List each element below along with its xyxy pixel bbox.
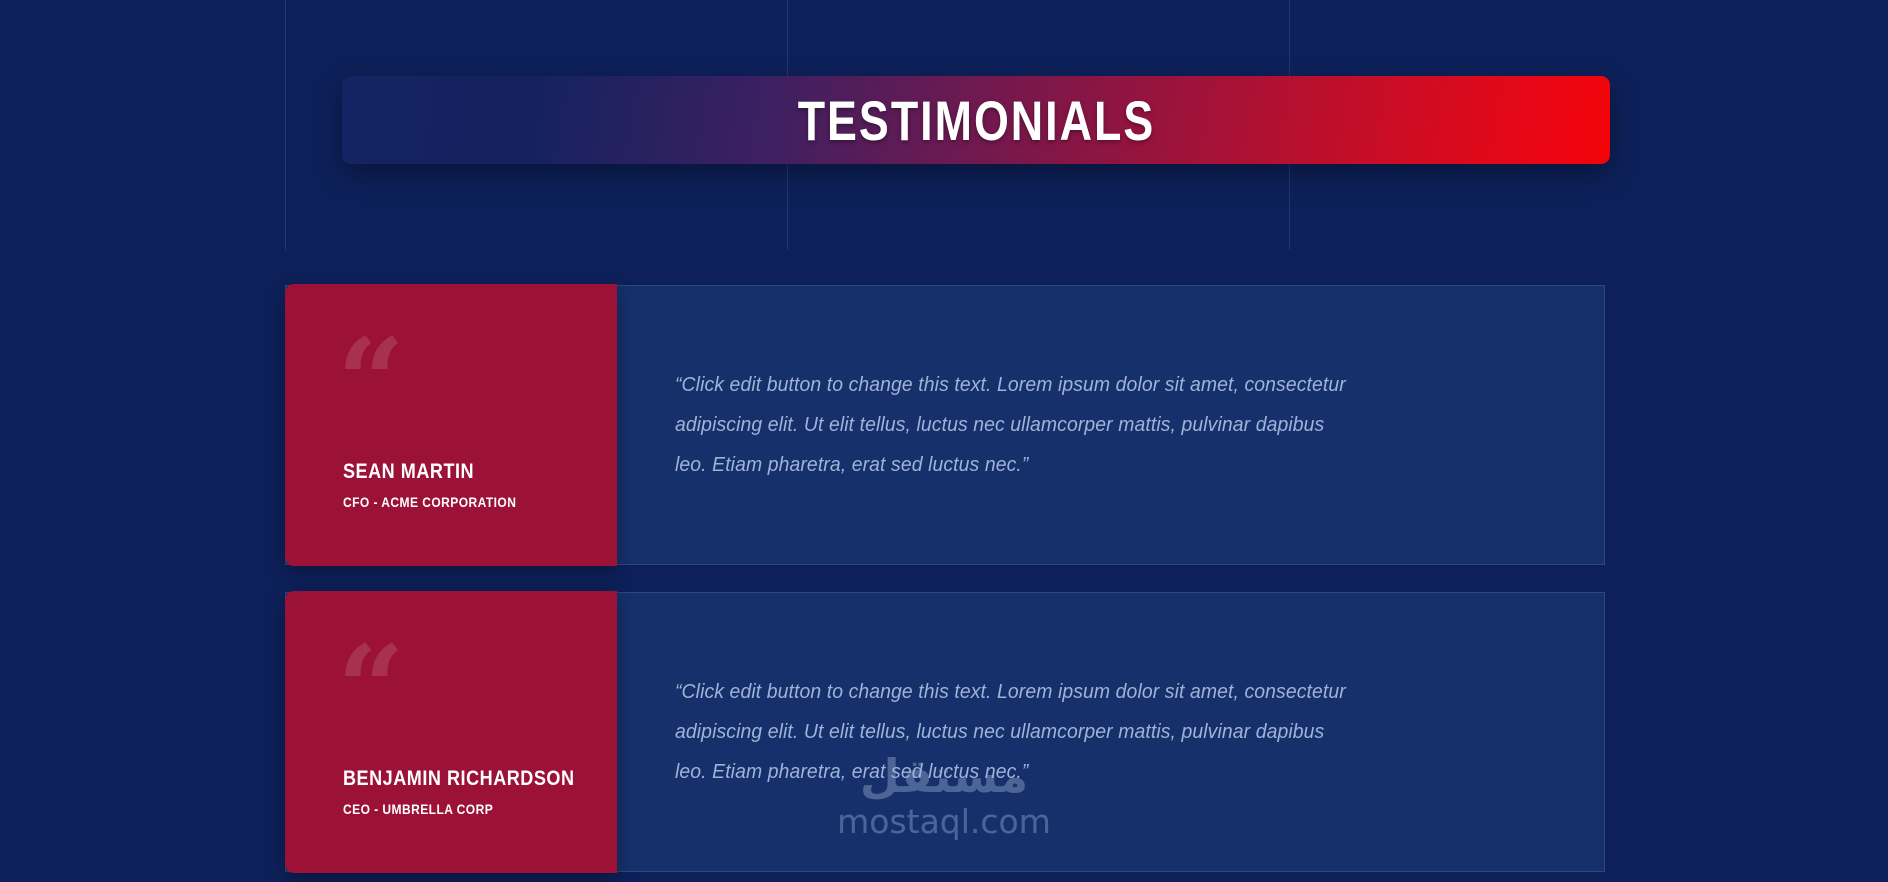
testimonial-quote-text: “Click edit button to change this text. … <box>675 365 1354 485</box>
quote-mark-icon: “ <box>337 336 405 428</box>
testimonial-quote-panel: “Click edit button to change this text. … <box>617 593 1604 871</box>
testimonial-author-name: SEAN MARTIN <box>343 460 579 484</box>
quote-mark-icon: “ <box>337 643 405 735</box>
testimonial-author-name: BENJAMIN RICHARDSON <box>343 767 579 791</box>
testimonial-author-role: CEO - UMBRELLA CORP <box>343 801 579 817</box>
testimonials-page: TESTIMONIALS “ SEAN MARTIN CFO - ACME CO… <box>0 0 1888 882</box>
grid-line <box>285 0 286 250</box>
testimonial-card: “ SEAN MARTIN CFO - ACME CORPORATION “Cl… <box>285 285 1605 565</box>
testimonial-person-panel: “ SEAN MARTIN CFO - ACME CORPORATION <box>285 284 617 566</box>
testimonial-author-role: CFO - ACME CORPORATION <box>343 494 579 510</box>
section-title-banner: TESTIMONIALS <box>342 76 1610 164</box>
testimonial-quote-text: “Click edit button to change this text. … <box>675 672 1354 792</box>
testimonial-person-panel: “ BENJAMIN RICHARDSON CEO - UMBRELLA COR… <box>285 591 617 873</box>
testimonial-card: “ BENJAMIN RICHARDSON CEO - UMBRELLA COR… <box>285 592 1605 872</box>
page-title: TESTIMONIALS <box>797 88 1155 153</box>
testimonial-quote-panel: “Click edit button to change this text. … <box>617 286 1604 564</box>
